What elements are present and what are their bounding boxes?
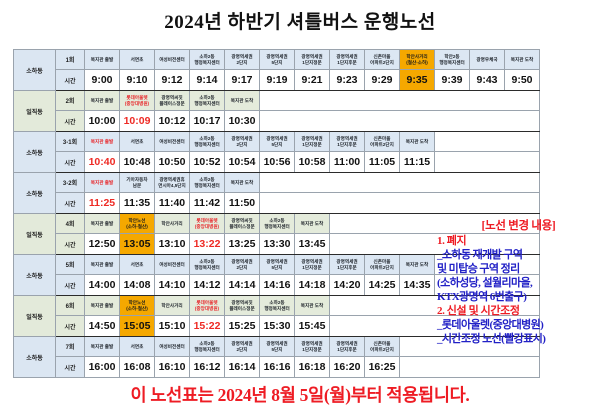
stop-name-cell: 여성비전센터 <box>155 132 190 152</box>
stop-name-cell: 복지관 출발 <box>85 173 120 193</box>
stop-name-cell: 소하2동행정복지센터 <box>190 132 225 152</box>
stop-name-cell: 학안노선(소하-철산) <box>120 296 155 316</box>
stop-name-cell: 여성비전센터 <box>155 337 190 357</box>
stop-name-cell: 여성비전센터 <box>155 50 190 70</box>
stop-time-cell: 11:50 <box>225 193 260 214</box>
stop-time-cell: 15:22 <box>190 316 225 337</box>
stop-time-cell: 9:14 <box>190 70 225 91</box>
stop-name-cell: 복지관 출발 <box>85 50 120 70</box>
stop-name-cell: 광명역씨짓플레이스정문 <box>155 91 190 111</box>
stop-time-cell: 9:19 <box>260 70 295 91</box>
stop-name-cell: 복지관 도착 <box>400 132 435 152</box>
stop-name-cell: 신촌마을아파트2단지 <box>365 255 400 275</box>
stop-name-cell: 광명역세권5단지 <box>260 337 295 357</box>
stop-name-cell: 학안2동행정복지센터 <box>435 50 470 70</box>
stop-name-cell: 광명역세권5단지 <box>260 132 295 152</box>
stop-name-cell: 서면초 <box>120 337 155 357</box>
stop-time-cell: 14:08 <box>120 275 155 296</box>
schedule-stop-row: 소하동1회복지관 출발서면초여성비전센터소하2동행정복지센터광명역세권2단지광명… <box>14 50 540 70</box>
stop-name-cell: 롯데아울렛(중앙대병원) <box>190 296 225 316</box>
schedule-time-row: 시간9:009:109:129:149:179:199:219:239:299:… <box>14 70 540 91</box>
stop-time-cell: 9:50 <box>505 70 540 91</box>
stop-name-cell: 광명역세권1단지정문 <box>295 255 330 275</box>
route-change-note-line: 및 미탑승 구역 정리 <box>437 263 600 277</box>
route-change-note-line: KTX광명역 6번출구) <box>437 291 600 305</box>
stop-name-cell: 광명역씨짓플레이스정문 <box>225 296 260 316</box>
stop-time-cell: 12:50 <box>85 234 120 255</box>
region-label: 소하동 <box>14 132 56 173</box>
stop-time-cell: 11:40 <box>155 193 190 214</box>
stop-name-cell: 롯데아울렛(중앙대병원) <box>120 91 155 111</box>
stop-time-cell: 11:25 <box>85 193 120 214</box>
stop-name-cell: 광명역세권휴먼시아4,5단지 <box>155 173 190 193</box>
stop-time-cell: 9:00 <box>85 70 120 91</box>
stop-time-cell: 15:30 <box>260 316 295 337</box>
stop-time-cell: 16:20 <box>330 357 365 378</box>
trip-number: 2회 <box>56 91 85 111</box>
stop-name-cell: 서면초 <box>120 132 155 152</box>
stop-time-cell: 9:39 <box>435 70 470 91</box>
stop-time-cell: 16:00 <box>85 357 120 378</box>
stop-name-cell: 복지관 출발 <box>85 91 120 111</box>
time-row-label: 시간 <box>56 111 85 132</box>
stop-time-cell: 10:00 <box>85 111 120 132</box>
stop-time-cell: 14:00 <box>85 275 120 296</box>
trip-number: 5회 <box>56 255 85 275</box>
stop-name-cell: 학안사거리(철산-소하) <box>400 50 435 70</box>
stop-time-cell: 14:10 <box>155 275 190 296</box>
stop-time-cell: 9:29 <box>365 70 400 91</box>
stop-name-cell: 광명역세권1단지후문 <box>330 132 365 152</box>
stop-time-cell: 10:17 <box>190 111 225 132</box>
time-row-label: 시간 <box>56 275 85 296</box>
stop-name-cell: 복지관 도착 <box>505 50 540 70</box>
route-change-note-line: _시간조정 노선(빨강표시) <box>437 333 600 347</box>
stop-time-cell: 15:25 <box>225 316 260 337</box>
stop-name-cell: 서면초 <box>120 50 155 70</box>
stop-time-cell: 14:18 <box>295 275 330 296</box>
stop-time-cell: 11:35 <box>120 193 155 214</box>
schedule-time-row: 시간10:4010:4810:5010:5210:5410:5610:5811:… <box>14 152 540 173</box>
trip-number: 6회 <box>56 296 85 316</box>
stop-name-cell: 소하2동행정복지센터 <box>190 91 225 111</box>
stop-name-cell: 학안노선(소하-철산) <box>120 214 155 234</box>
stop-name-cell: 광명역씨짓플레이스정문 <box>225 214 260 234</box>
stop-time-cell: 13:10 <box>155 234 190 255</box>
stop-name-cell: 복지관 도착 <box>225 173 260 193</box>
effective-date-note: 이 노선표는 2024년 8월 5일(월)부터 적용됩니다. <box>0 382 600 407</box>
stop-time-cell: 9:21 <box>295 70 330 91</box>
stop-time-cell: 9:10 <box>120 70 155 91</box>
schedule-time-row: 시간10:0010:0910:1210:1710:30 <box>14 111 540 132</box>
schedule-stop-row: 일직동2회복지관 출발롯데아울렛(중앙대병원)광명역씨짓플레이스정문소하2동행정… <box>14 91 540 111</box>
stop-time-cell: 9:12 <box>155 70 190 91</box>
stop-time-cell: 14:25 <box>365 275 400 296</box>
empty-cell <box>435 152 540 173</box>
stop-name-cell: 광명우체국 <box>470 50 505 70</box>
stop-name-cell: 복지관 도착 <box>400 255 435 275</box>
empty-cell <box>435 132 540 152</box>
trip-number: 3-2회 <box>56 173 85 193</box>
stop-name-cell: 복지관 출발 <box>85 255 120 275</box>
stop-time-cell: 16:10 <box>155 357 190 378</box>
stop-name-cell: 광명역세권2단지 <box>225 50 260 70</box>
region-label: 소하동 <box>14 337 56 378</box>
schedule-time-row: 시간16:0016:0816:1016:1216:1416:1616:1816:… <box>14 357 540 378</box>
stop-name-cell: 학안사거리 <box>155 214 190 234</box>
stop-name-cell: 광명역세권1단지후문 <box>330 50 365 70</box>
stop-time-cell: 14:50 <box>85 316 120 337</box>
stop-name-cell: 소하2동행정복지센터 <box>190 173 225 193</box>
stop-name-cell: 복지관 출발 <box>85 132 120 152</box>
trip-number: 3-1회 <box>56 132 85 152</box>
region-label: 일직동 <box>14 91 56 132</box>
stop-name-cell: 복지관 출발 <box>85 296 120 316</box>
stop-time-cell: 14:14 <box>225 275 260 296</box>
route-change-note-line: 2. 신설 및 시간조정 <box>437 305 600 319</box>
stop-name-cell: 복지관 도착 <box>225 91 260 111</box>
stop-time-cell: 10:12 <box>155 111 190 132</box>
stop-time-cell: 16:25 <box>365 357 400 378</box>
stop-name-cell: 복지관 출발 <box>85 337 120 357</box>
stop-name-cell: 소하2동행정복지센터 <box>260 214 295 234</box>
stop-name-cell: 소하2동행정복지센터 <box>190 255 225 275</box>
route-change-note-line: _롯데아울렛(중앙대병원) <box>437 319 600 333</box>
stop-time-cell: 14:16 <box>260 275 295 296</box>
stop-time-cell: 13:30 <box>260 234 295 255</box>
stop-name-cell: 복지관 도착 <box>295 296 330 316</box>
stop-time-cell: 13:22 <box>190 234 225 255</box>
stop-name-cell: 복지관 출발 <box>85 214 120 234</box>
time-row-label: 시간 <box>56 152 85 173</box>
time-row-label: 시간 <box>56 316 85 337</box>
stop-time-cell: 9:17 <box>225 70 260 91</box>
route-change-notes-title: [노선 변경 내용] <box>437 219 600 233</box>
time-row-label: 시간 <box>56 70 85 91</box>
stop-name-cell: 신촌마을아파트2단지 <box>365 132 400 152</box>
stop-time-cell: 16:14 <box>225 357 260 378</box>
shuttle-schedule-table-wrapper: 소하동1회복지관 출발서면초여성비전센터소하2동행정복지센터광명역세권2단지광명… <box>13 49 434 378</box>
region-label: 소하동 <box>14 173 56 214</box>
stop-time-cell: 14:12 <box>190 275 225 296</box>
stop-time-cell: 10:40 <box>85 152 120 173</box>
stop-name-cell: 서면초 <box>120 255 155 275</box>
route-change-note-line: 1. 폐지 <box>437 235 600 249</box>
stop-time-cell: 10:48 <box>120 152 155 173</box>
stop-name-cell: 소하2동행정복지센터 <box>190 50 225 70</box>
region-label: 일직동 <box>14 296 56 337</box>
stop-name-cell: 광명역세권1단지정문 <box>295 132 330 152</box>
empty-cell <box>400 357 540 378</box>
schedule-stop-row: 소하동3-1회복지관 출발서면초여성비전센터소하2동행정복지센터광명역세권2단지… <box>14 132 540 152</box>
schedule-time-row: 시간11:2511:3511:4011:4211:50 <box>14 193 540 214</box>
stop-time-cell: 11:42 <box>190 193 225 214</box>
stop-name-cell: 학안사거리 <box>155 296 190 316</box>
region-label: 소하동 <box>14 255 56 296</box>
page-title: 2024년 하반기 셔틀버스 운행노선 <box>0 7 600 34</box>
stop-name-cell: 광명역세권1단지후문 <box>330 255 365 275</box>
stop-time-cell: 13:05 <box>120 234 155 255</box>
empty-cell <box>260 111 540 132</box>
time-row-label: 시간 <box>56 193 85 214</box>
stop-name-cell: 신촌마을아파트2단지 <box>365 50 400 70</box>
trip-number: 1회 <box>56 50 85 70</box>
route-change-note-line: _소하동 재개발 구역 <box>437 249 600 263</box>
stop-time-cell: 13:45 <box>295 234 330 255</box>
stop-time-cell: 10:52 <box>190 152 225 173</box>
empty-cell <box>260 193 540 214</box>
stop-name-cell: 광명역세권1단지정문 <box>295 337 330 357</box>
time-row-label: 시간 <box>56 234 85 255</box>
stop-time-cell: 16:08 <box>120 357 155 378</box>
stop-name-cell: 광명역세권5단지 <box>260 255 295 275</box>
stop-name-cell: 광명역세권2단지 <box>225 132 260 152</box>
route-change-notes: [노선 변경 내용] 1. 폐지_소하동 재개발 구역및 미탑승 구역 정리(소… <box>437 219 600 346</box>
region-label: 일직동 <box>14 214 56 255</box>
stop-time-cell: 9:35 <box>400 70 435 91</box>
stop-name-cell: 소하2동행정복지센터 <box>190 337 225 357</box>
stop-time-cell: 15:10 <box>155 316 190 337</box>
stop-time-cell: 9:43 <box>470 70 505 91</box>
stop-time-cell: 14:20 <box>330 275 365 296</box>
stop-time-cell: 15:45 <box>295 316 330 337</box>
stop-time-cell: 9:23 <box>330 70 365 91</box>
stop-name-cell: 신촌마을아파트2단지 <box>365 337 400 357</box>
stop-time-cell: 11:15 <box>400 152 435 173</box>
empty-cell <box>260 91 540 111</box>
stop-name-cell: 광명역세권1단지후문 <box>330 337 365 357</box>
stop-time-cell: 10:30 <box>225 111 260 132</box>
stop-time-cell: 13:25 <box>225 234 260 255</box>
schedule-stop-row: 소하동3-2회복지관 출발기아자동차남문광명역세권휴먼시아4,5단지소하2동행정… <box>14 173 540 193</box>
stop-name-cell: 광명역세권2단지 <box>225 337 260 357</box>
stop-name-cell: 복지관 도착 <box>295 214 330 234</box>
stop-time-cell: 11:05 <box>365 152 400 173</box>
stop-time-cell: 10:09 <box>120 111 155 132</box>
stop-name-cell: 롯데아울렛(중앙대병원) <box>190 214 225 234</box>
stop-name-cell: 소하2동행정복지센터 <box>260 296 295 316</box>
stop-time-cell: 11:00 <box>330 152 365 173</box>
trip-number: 7회 <box>56 337 85 357</box>
empty-cell <box>260 173 540 193</box>
stop-time-cell: 15:05 <box>120 316 155 337</box>
route-change-note-line: (소하성당, 설월리마을, <box>437 277 600 291</box>
stop-time-cell: 10:58 <box>295 152 330 173</box>
route-change-notes-lines: 1. 폐지_소하동 재개발 구역및 미탑승 구역 정리(소하성당, 설월리마을,… <box>437 235 600 346</box>
region-label: 소하동 <box>14 50 56 91</box>
stop-time-cell: 16:12 <box>190 357 225 378</box>
time-row-label: 시간 <box>56 357 85 378</box>
stop-time-cell: 16:18 <box>295 357 330 378</box>
stop-time-cell: 10:54 <box>225 152 260 173</box>
stop-name-cell: 광명역세권1단지정문 <box>295 50 330 70</box>
stop-name-cell: 광명역세권2단지 <box>225 255 260 275</box>
stop-time-cell: 14:35 <box>400 275 435 296</box>
trip-number: 4회 <box>56 214 85 234</box>
stop-name-cell: 여성비전센터 <box>155 255 190 275</box>
stop-name-cell: 광명역세권5단지 <box>260 50 295 70</box>
stop-time-cell: 10:56 <box>260 152 295 173</box>
stop-name-cell: 기아자동차남문 <box>120 173 155 193</box>
stop-time-cell: 10:50 <box>155 152 190 173</box>
stop-time-cell: 16:16 <box>260 357 295 378</box>
